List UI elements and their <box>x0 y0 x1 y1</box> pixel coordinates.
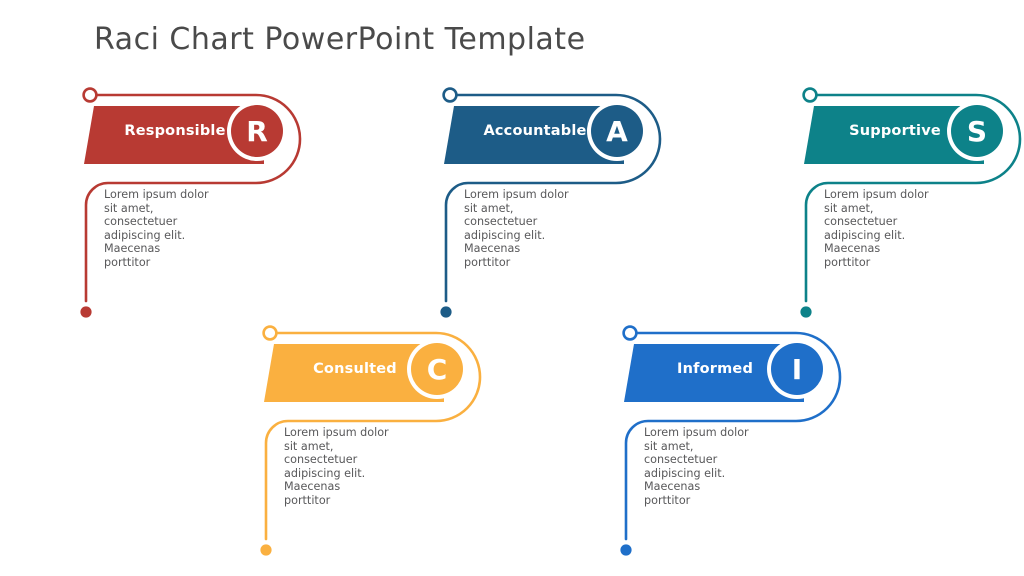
badge-start-node-icon <box>84 89 97 102</box>
badge-start-node-icon <box>804 89 817 102</box>
badge-end-dot-icon <box>620 544 631 555</box>
raci-description-consulted: Lorem ipsum dolor sit amet, consectetuer… <box>284 426 389 508</box>
raci-label-responsible: Responsible <box>100 114 250 148</box>
raci-item-supportive[interactable]: Supportive S Lorem ipsum dolor sit amet,… <box>798 86 1024 326</box>
raci-description-informed: Lorem ipsum dolor sit amet, consectetuer… <box>644 426 749 508</box>
badge-start-node-icon <box>264 327 277 340</box>
raci-item-consulted[interactable]: Consulted C Lorem ipsum dolor sit amet, … <box>258 324 488 564</box>
badge-start-node-icon <box>624 327 637 340</box>
badge-end-dot-icon <box>440 306 451 317</box>
page-title: Raci Chart PowerPoint Template <box>94 22 586 57</box>
raci-description-responsible: Lorem ipsum dolor sit amet, consectetuer… <box>104 188 209 270</box>
raci-item-informed[interactable]: Informed I Lorem ipsum dolor sit amet, c… <box>618 324 848 564</box>
raci-item-accountable[interactable]: Accountable A Lorem ipsum dolor sit amet… <box>438 86 668 326</box>
raci-label-accountable: Accountable <box>460 114 610 148</box>
raci-description-supportive: Lorem ipsum dolor sit amet, consectetuer… <box>824 188 929 270</box>
slide-canvas: Raci Chart PowerPoint Template Responsib… <box>0 0 1024 576</box>
raci-description-accountable: Lorem ipsum dolor sit amet, consectetuer… <box>464 188 569 270</box>
badge-end-dot-icon <box>800 306 811 317</box>
raci-item-responsible[interactable]: Responsible R Lorem ipsum dolor sit amet… <box>78 86 308 326</box>
raci-label-supportive: Supportive <box>820 114 970 148</box>
badge-start-node-icon <box>444 89 457 102</box>
badge-end-dot-icon <box>80 306 91 317</box>
raci-label-informed: Informed <box>640 352 790 386</box>
badge-end-dot-icon <box>260 544 271 555</box>
raci-label-consulted: Consulted <box>280 352 430 386</box>
